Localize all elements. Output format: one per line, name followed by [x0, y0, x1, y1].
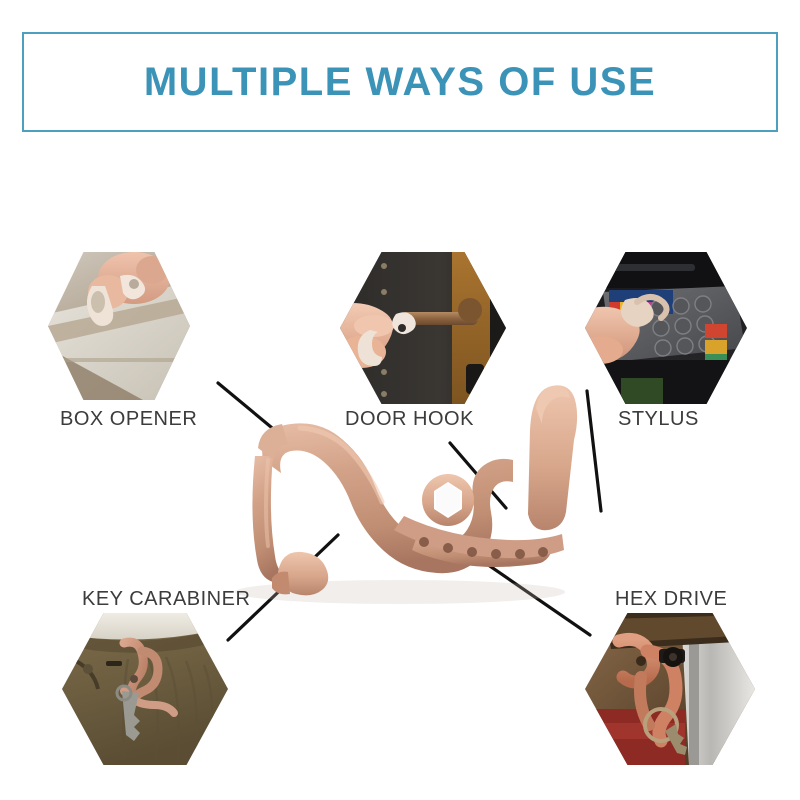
- callout-label-key-carabiner: KEY CARABINER: [82, 588, 250, 611]
- callout-label-hex-drive: HEX DRIVE: [615, 588, 727, 611]
- hex-hole: [422, 474, 474, 526]
- leader-line-box-opener: [218, 383, 277, 432]
- leader-line-stylus: [587, 391, 601, 511]
- poster-root: MULTIPLE WAYS OF USE: [0, 0, 800, 800]
- page-title: MULTIPLE WAYS OF USE: [144, 60, 656, 105]
- callout-label-door-hook: DOOR HOOK: [345, 408, 474, 431]
- diagram-overlay: [0, 160, 800, 800]
- callout-label-stylus: STYLUS: [618, 408, 699, 431]
- usage-diagram: BOX OPENER DOOR HOOK STYLUS KEY CARABINE…: [0, 160, 800, 800]
- title-banner: MULTIPLE WAYS OF USE: [22, 32, 778, 132]
- callout-label-box-opener: BOX OPENER: [60, 408, 197, 431]
